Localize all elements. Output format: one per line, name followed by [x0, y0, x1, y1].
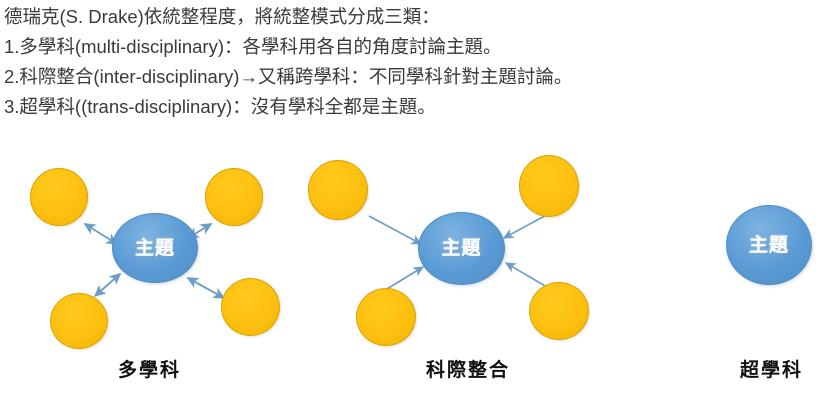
diagram-row: 主題 多學科 — [0, 150, 831, 401]
topic-node[interactable]: 主題 — [726, 205, 812, 285]
subject-node[interactable] — [205, 168, 263, 226]
topic-node[interactable]: 主題 — [418, 212, 505, 285]
explanatory-text-block: 德瑞克(S. Drake)依統整程度，將統整模式分成三類： 1.多學科(mult… — [4, 2, 828, 122]
subject-node[interactable] — [356, 288, 416, 346]
diagram-caption: 科際整合 — [426, 361, 510, 380]
text-line-intro: 德瑞克(S. Drake)依統整程度，將統整模式分成三類： — [4, 2, 828, 32]
subject-node[interactable] — [221, 278, 280, 336]
topic-node-label: 主題 — [441, 239, 481, 258]
subject-node[interactable] — [308, 160, 368, 220]
diagram-caption: 多學科 — [118, 361, 181, 380]
topic-node-label: 主題 — [135, 239, 175, 258]
subject-node[interactable] — [50, 293, 108, 349]
subject-node[interactable] — [519, 155, 579, 217]
text-line-item-3: 3.超學科((trans-disciplinary)：沒有學科全都是主題。 — [4, 92, 828, 122]
arrow-bottomright — [188, 278, 224, 298]
diagram-trans-disciplinary: 主題 超學科 — [600, 150, 831, 401]
diagram-inter-disciplinary: 主題 科際整合 — [300, 150, 600, 401]
arrow-bottomleft — [95, 274, 120, 296]
subject-node[interactable] — [529, 282, 589, 340]
diagram-caption: 超學科 — [740, 361, 803, 380]
slide-canvas: 德瑞克(S. Drake)依統整程度，將統整模式分成三類： 1.多學科(mult… — [0, 0, 831, 401]
text-line-item-2: 2.科際整合(inter-disciplinary)→又稱跨學科：不同學科針對主… — [4, 62, 828, 92]
topic-node[interactable]: 主題 — [112, 213, 198, 283]
text-line-item-1: 1.多學科(multi-disciplinary)：各學科用各自的角度討論主題。 — [4, 32, 828, 62]
topic-node-label: 主題 — [749, 236, 789, 255]
diagram-multi-disciplinary: 主題 多學科 — [0, 150, 300, 401]
arrow-topleft — [369, 216, 421, 244]
subject-node[interactable] — [30, 168, 88, 226]
